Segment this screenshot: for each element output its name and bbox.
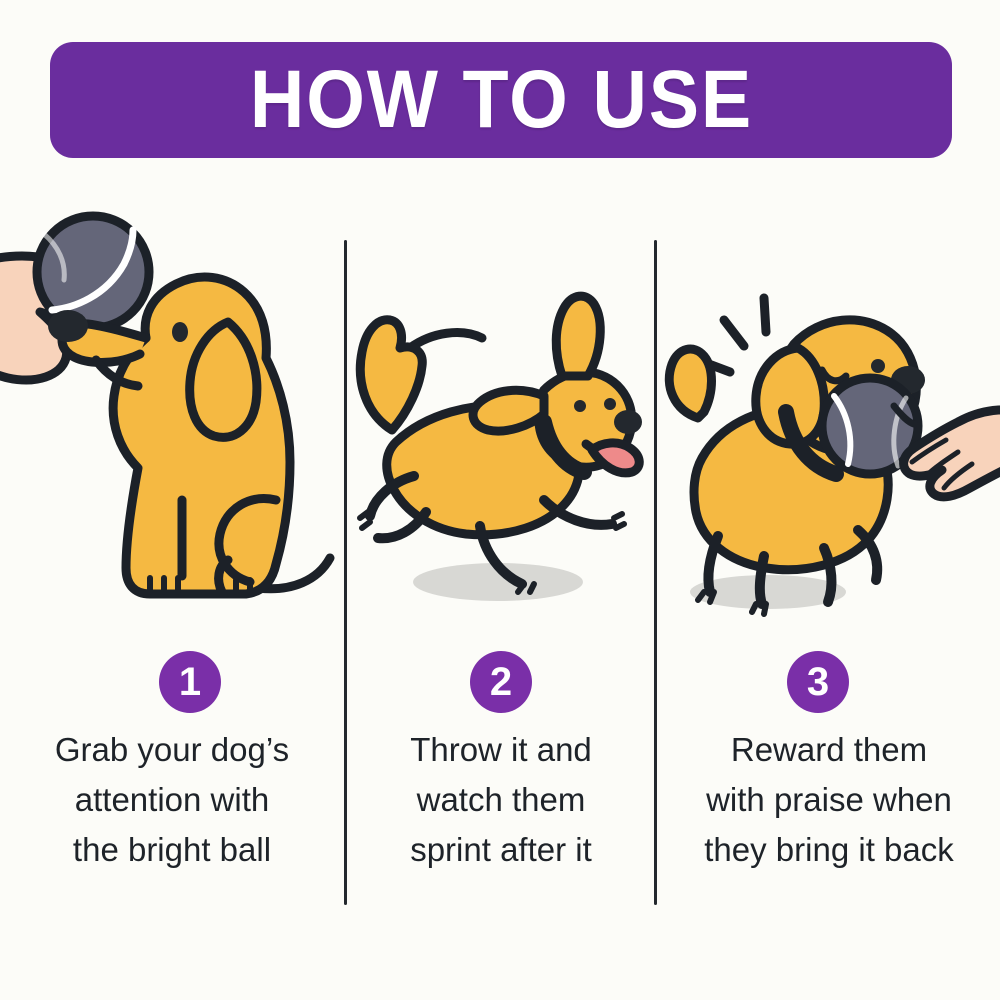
dog-running [360,296,642,592]
caption-line: Throw it and [348,725,654,775]
step-number-1: 1 [179,662,201,702]
step-number-badge-3: 3 [787,651,849,713]
panel-divider-1 [344,240,347,905]
panel-divider-2 [654,240,657,905]
step-caption-2: Throw it and watch them sprint after it [348,725,654,875]
title-banner: HOW TO USE [50,42,952,158]
dog-sitting [48,277,330,594]
step-number-2: 2 [490,662,512,702]
caption-line: the bright ball [0,825,344,875]
step-panel-3: 3 Reward them with praise when they brin… [658,200,1000,960]
motion-line [410,333,482,348]
step-panel-1: 1 Grab your dog’s attention with the bri… [0,200,344,960]
step-number-3: 3 [807,662,829,702]
caption-line: with praise when [658,775,1000,825]
step-panel-2: 2 Throw it and watch them sprint after i… [348,200,654,960]
page-title: HOW TO USE [249,59,752,141]
step-caption-1: Grab your dog’s attention with the brigh… [0,725,344,875]
illustration-hand-holding-ball-and-sitting-dog [0,200,344,640]
illustration-running-dog-with-motion-line [348,200,654,640]
illustration-dog-returning-ball-to-hand [658,200,1000,640]
caption-line: attention with [0,775,344,825]
step-caption-3: Reward them with praise when they bring … [658,725,1000,875]
dog-with-ball [669,320,925,614]
caption-line: they bring it back [658,825,1000,875]
ball-icon [37,216,149,328]
step-number-badge-1: 1 [159,651,221,713]
step-number-badge-2: 2 [470,651,532,713]
infographic-root: HOW TO USE [0,0,1000,1000]
caption-line: watch them [348,775,654,825]
caption-line: sprint after it [348,825,654,875]
caption-line: Grab your dog’s [0,725,344,775]
caption-line: Reward them [658,725,1000,775]
